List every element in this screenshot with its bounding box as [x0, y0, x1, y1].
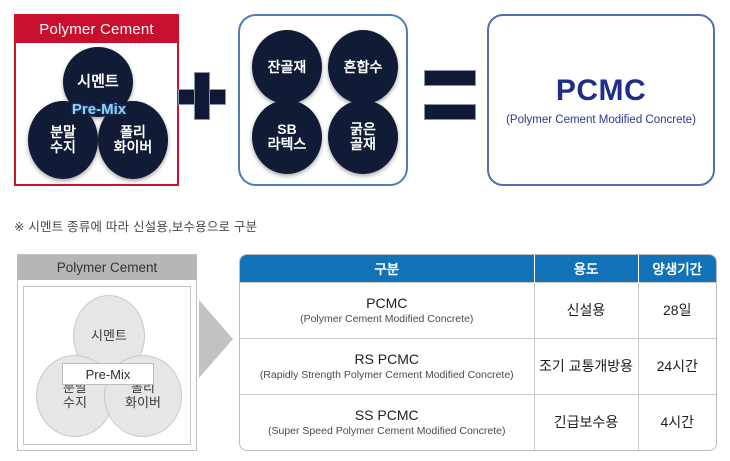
table-header-curing: 양생기간: [638, 255, 716, 282]
cement-bottom-line1: 시멘트: [91, 329, 127, 344]
polymer-cement-box: Polymer Cement 시멘트 분말 수지 폴리 화이버 Pre-Mix: [14, 14, 179, 186]
table-cell-type: RS PCMC (Rapidly Strength Polymer Cement…: [240, 338, 534, 394]
premix-label-top: Pre-Mix: [57, 101, 141, 118]
coarse-aggregate-line2: 골재: [350, 137, 376, 152]
diagram-root: Polymer Cement 시멘트 분말 수지 폴리 화이버 Pre-Mix: [0, 0, 730, 461]
type-main-2: SS PCMC: [243, 407, 531, 423]
table-cell-usage: 조기 교통개방용: [534, 338, 638, 394]
fine-aggregate-line1: 잔골재: [268, 60, 307, 75]
mixing-water-circle: 혼합수: [328, 30, 398, 104]
type-sub-0: (Polymer Cement Modified Concrete): [243, 313, 531, 325]
note-text: ※ 시멘트 종류에 따라 신설용,보수용으로 구분: [14, 216, 257, 235]
pcmc-type-table: 구분 용도 양생기간 PCMC (Polymer Cement Modified…: [239, 254, 717, 451]
polymer-cement-bottom-body: 시멘트 분말 수지 폴리 화이버 Pre-Mix: [18, 280, 196, 450]
fine-aggregate-circle: 잔골재: [252, 30, 322, 104]
result-title: PCMC: [556, 74, 646, 108]
type-sub-2: (Super Speed Polymer Cement Modified Con…: [243, 425, 531, 437]
table-header-row: 구분 용도 양생기간: [240, 255, 716, 282]
powder-resin-bottom-line2: 수지: [63, 396, 87, 411]
equals-icon-bottom-bar: [424, 104, 476, 120]
equals-icon: [424, 70, 476, 122]
poly-fiber-line1: 폴리: [120, 125, 146, 140]
table-cell-usage: 긴급보수용: [534, 394, 638, 450]
aggregate-mix-box: 잔골재 혼합수 SB 라텍스 굵은 골재: [238, 14, 408, 186]
arrow-right-icon: [199, 300, 233, 378]
table-cell-type: SS PCMC (Super Speed Polymer Cement Modi…: [240, 394, 534, 450]
result-box: PCMC (Polymer Cement Modified Concrete): [487, 14, 715, 186]
table-cell-curing: 4시간: [638, 394, 716, 450]
table-cell-curing: 24시간: [638, 338, 716, 394]
powder-resin-line2: 수지: [50, 140, 76, 155]
coarse-aggregate-circle: 굵은 골재: [328, 100, 398, 174]
pcmc-table: 구분 용도 양생기간 PCMC (Polymer Cement Modified…: [240, 255, 716, 450]
sb-latex-circle: SB 라텍스: [252, 100, 322, 174]
equals-icon-top-bar: [424, 70, 476, 86]
table-header-usage: 용도: [534, 255, 638, 282]
polymer-cement-bottom-inner: 시멘트 분말 수지 폴리 화이버 Pre-Mix: [23, 286, 191, 445]
type-main-0: PCMC: [243, 295, 531, 311]
type-main-1: RS PCMC: [243, 351, 531, 367]
table-row: RS PCMC (Rapidly Strength Polymer Cement…: [240, 338, 716, 394]
sb-latex-line2: 라텍스: [268, 137, 307, 152]
table-row: PCMC (Polymer Cement Modified Concrete) …: [240, 282, 716, 338]
equation-row: Polymer Cement 시멘트 분말 수지 폴리 화이버 Pre-Mix: [0, 0, 730, 200]
plus-icon-vertical-bar: [194, 72, 210, 120]
table-cell-type: PCMC (Polymer Cement Modified Concrete): [240, 282, 534, 338]
result-subtitle: (Polymer Cement Modified Concrete): [506, 114, 696, 126]
polymer-cement-diagram-bottom: Polymer Cement 시멘트 분말 수지 폴리 화이버 Pre-Mix: [17, 254, 197, 451]
polymer-cement-title: Polymer Cement: [16, 16, 177, 43]
type-sub-1: (Rapidly Strength Polymer Cement Modifie…: [243, 369, 531, 381]
plus-icon: [178, 72, 226, 120]
coarse-aggregate-line1: 굵은: [350, 122, 376, 137]
cement-circle-line1: 시멘트: [77, 74, 118, 90]
poly-fiber-bottom-line2: 화이버: [125, 396, 161, 411]
poly-fiber-line2: 화이버: [114, 140, 153, 155]
table-cell-usage: 신설용: [534, 282, 638, 338]
table-row: SS PCMC (Super Speed Polymer Cement Modi…: [240, 394, 716, 450]
table-cell-curing: 28일: [638, 282, 716, 338]
polymer-cement-bottom-title: Polymer Cement: [18, 255, 196, 280]
polymer-cement-body: 시멘트 분말 수지 폴리 화이버 Pre-Mix: [16, 43, 177, 186]
mixing-water-line1: 혼합수: [344, 60, 383, 75]
premix-label-bottom: Pre-Mix: [62, 363, 154, 385]
table-body: PCMC (Polymer Cement Modified Concrete) …: [240, 282, 716, 450]
sb-latex-line1: SB: [277, 122, 296, 137]
table-head: 구분 용도 양생기간: [240, 255, 716, 282]
powder-resin-line1: 분말: [50, 125, 76, 140]
table-header-type: 구분: [240, 255, 534, 282]
